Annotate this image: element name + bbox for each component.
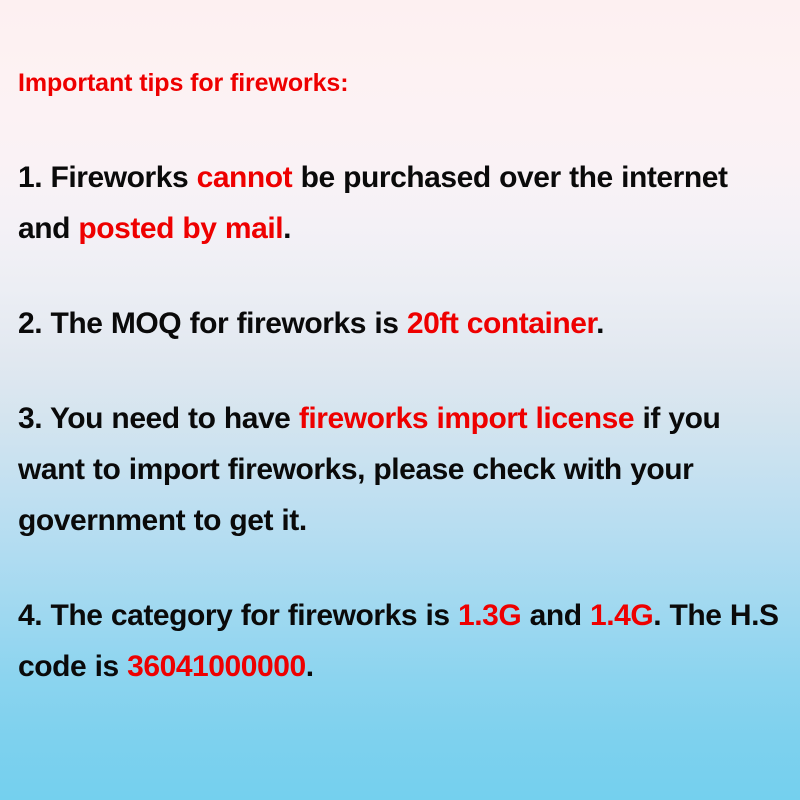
tip-text-1: Fireworks cannot be purchased over the i…	[18, 161, 728, 245]
plain-text: The category for fireworks is	[51, 599, 458, 632]
tip-text-4: The category for fireworks is 1.3G and 1…	[18, 599, 779, 683]
plain-text: You need to have	[50, 402, 299, 435]
plain-text: .	[283, 212, 291, 245]
highlighted-text: 1.4G	[590, 599, 653, 632]
tip-number-3: 3.	[18, 402, 42, 435]
plain-text: .	[596, 307, 604, 340]
tip-text-3: You need to have fireworks import licens…	[18, 402, 720, 537]
tip-item-3: 3. You need to have fireworks import lic…	[18, 393, 780, 546]
fireworks-notice-card: Important tips for fireworks: 1. Firewor…	[0, 0, 800, 800]
highlighted-text: fireworks import license	[299, 402, 634, 435]
tip-text-2: The MOQ for fireworks is 20ft container.	[51, 307, 604, 340]
tip-item-1: 1. Fireworks cannot be purchased over th…	[18, 152, 780, 254]
tip-item-2: 2. The MOQ for fireworks is 20ft contain…	[18, 298, 780, 349]
tips-list: 1. Fireworks cannot be purchased over th…	[18, 152, 780, 692]
highlighted-text: cannot	[197, 161, 293, 194]
plain-text: and	[521, 599, 590, 632]
tip-number-4: 4.	[18, 599, 42, 632]
highlighted-text: posted by mail	[78, 212, 283, 245]
plain-text: The MOQ for fireworks is	[51, 307, 407, 340]
page-title: Important tips for fireworks:	[18, 66, 780, 100]
highlighted-text: 1.3G	[458, 599, 521, 632]
highlighted-text: 20ft container	[407, 307, 596, 340]
tip-number-1: 1.	[18, 161, 42, 194]
plain-text: .	[306, 650, 314, 683]
highlighted-text: 36041000000	[127, 650, 306, 683]
tip-item-4: 4. The category for fireworks is 1.3G an…	[18, 590, 780, 692]
tip-number-2: 2.	[18, 307, 42, 340]
notice-content: Important tips for fireworks: 1. Firewor…	[18, 66, 780, 692]
plain-text: Fireworks	[51, 161, 197, 194]
